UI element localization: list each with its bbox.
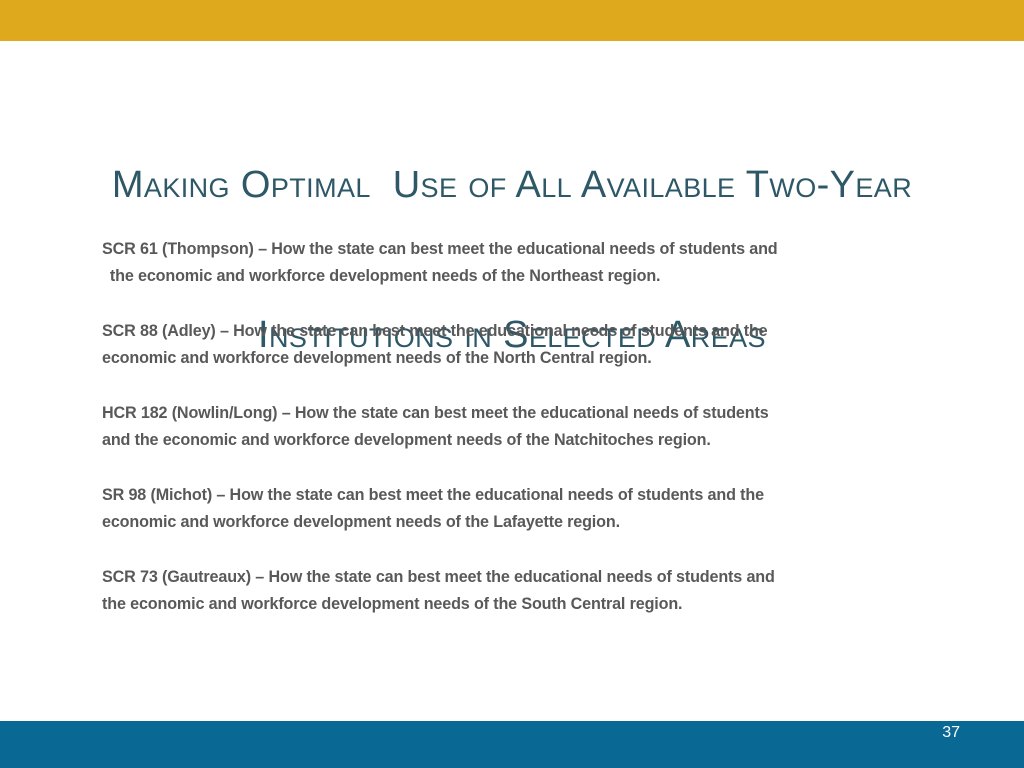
bill-item-scr-73: SCR 73 (Gautreaux) – How the state can b… — [102, 564, 941, 618]
bill-item-scr-61-line-1: SCR 61 (Thompson) – How the state can be… — [102, 236, 941, 263]
slide-canvas: Making Optimal Use of All Available Two-… — [0, 0, 1024, 768]
bill-item-scr-88-line-2: economic and workforce development needs… — [102, 345, 941, 372]
bill-item-sr-98: SR 98 (Michot) – How the state can best … — [102, 482, 941, 536]
bill-item-scr-88: SCR 88 (Adley) – How the state can best … — [102, 318, 941, 372]
top-accent-bar — [0, 0, 1024, 41]
slide-body: SCR 61 (Thompson) – How the state can be… — [102, 236, 954, 618]
bill-item-scr-61: SCR 61 (Thompson) – How the state can be… — [102, 236, 941, 290]
bill-item-hcr-182-line-1: HCR 182 (Nowlin/Long) – How the state ca… — [102, 400, 941, 427]
bill-item-sr-98-line-1: SR 98 (Michot) – How the state can best … — [102, 482, 941, 509]
bill-item-scr-73-line-1: SCR 73 (Gautreaux) – How the state can b… — [102, 564, 941, 591]
bill-item-sr-98-line-2: economic and workforce development needs… — [102, 509, 941, 536]
page-number: 37 — [942, 723, 960, 743]
bill-item-scr-73-line-2: the economic and workforce development n… — [102, 591, 941, 618]
footer-accent-bar — [0, 721, 1024, 768]
bill-item-scr-61-line-2: the economic and workforce development n… — [102, 263, 941, 290]
bill-item-scr-88-line-1: SCR 88 (Adley) – How the state can best … — [102, 318, 941, 345]
slide-title-line-1: Making Optimal Use of All Available Two-… — [50, 160, 974, 210]
bill-item-hcr-182: HCR 182 (Nowlin/Long) – How the state ca… — [102, 400, 941, 454]
bill-item-hcr-182-line-2: and the economic and workforce developme… — [102, 427, 941, 454]
